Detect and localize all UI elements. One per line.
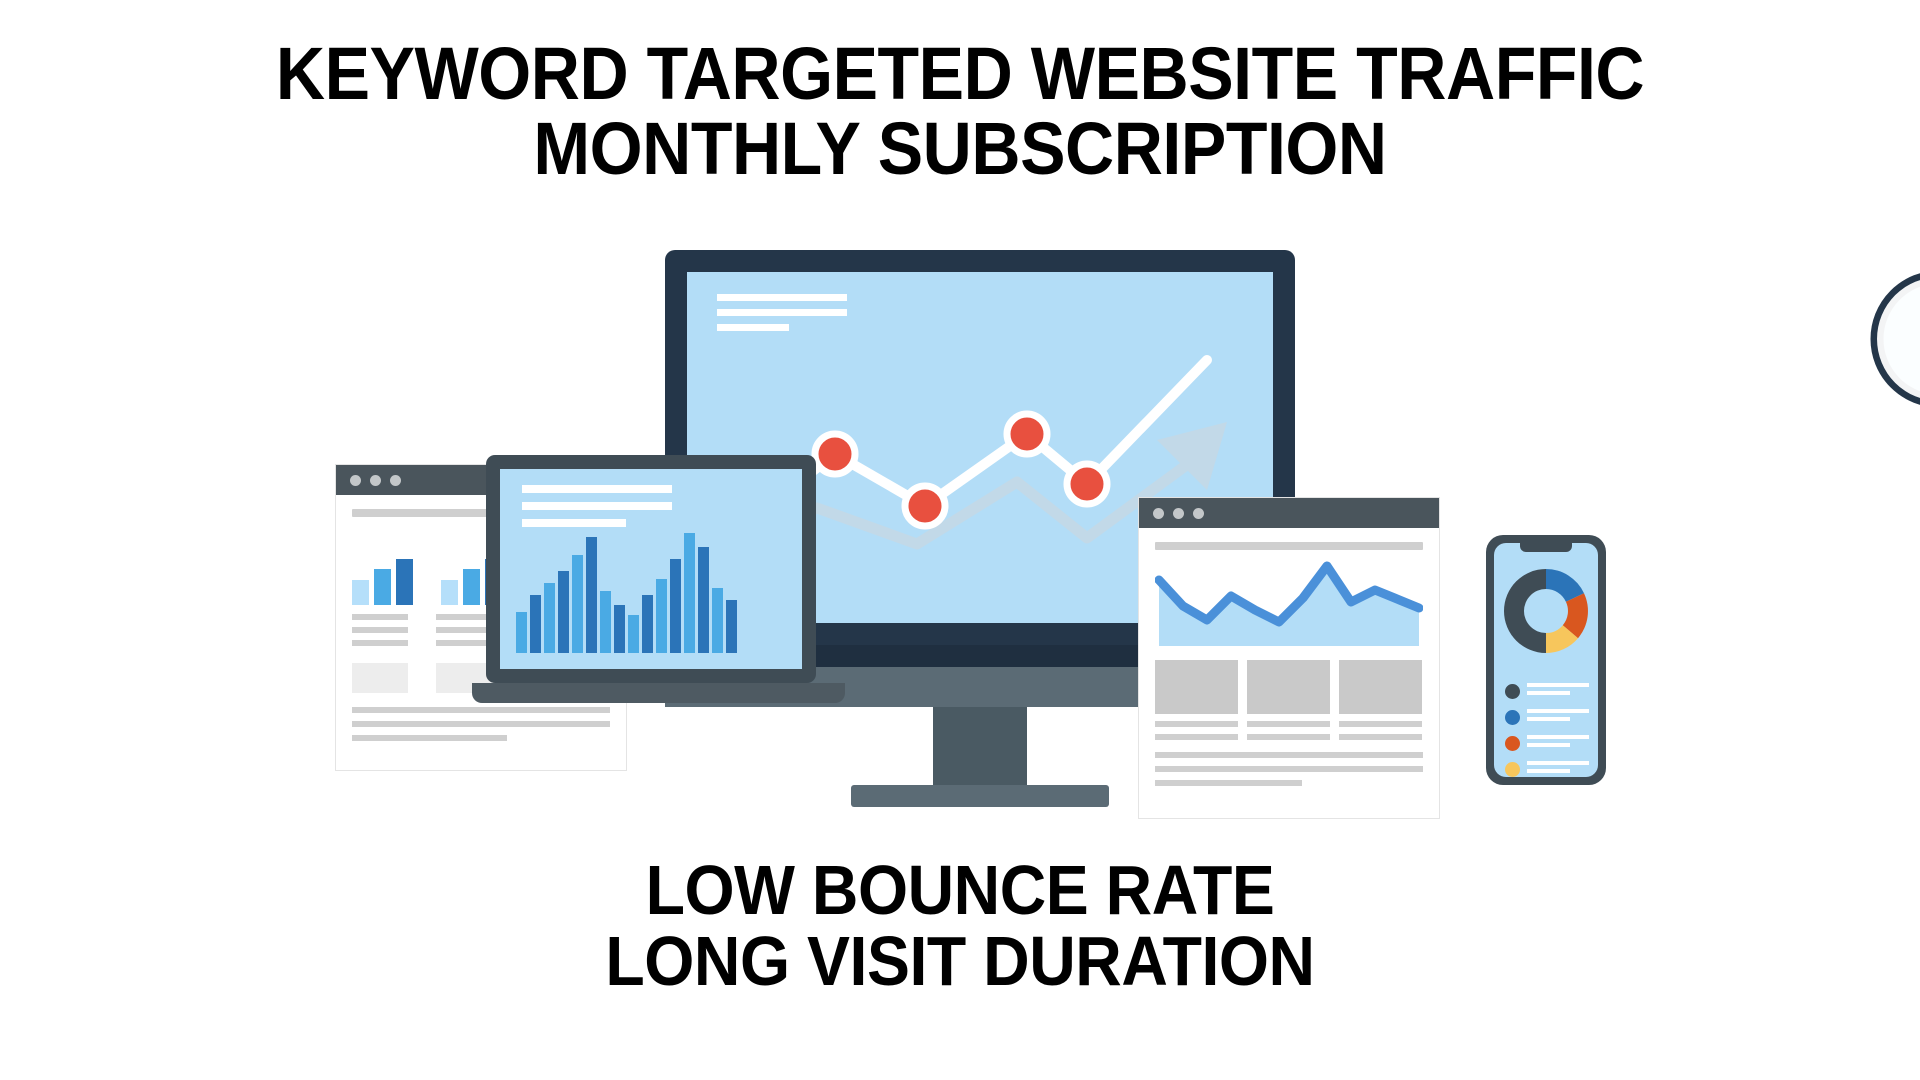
right-browser-window [1139,498,1439,818]
text-line [1155,721,1238,727]
right-browser-titlebar [1139,498,1439,528]
text-line [522,502,672,510]
chart-bar [670,559,681,653]
headline-bottom-line1: LOW BOUNCE RATE [77,855,1843,926]
text-line [1155,780,1302,786]
legend-label-lines [1527,683,1589,699]
content-card-row [1155,660,1423,740]
chart-bar [656,579,667,653]
chart-bar [614,605,625,653]
bar-low [352,580,369,605]
window-dot-icon [1153,508,1164,519]
legend-color-dot [1505,684,1520,699]
chart-bar [572,555,583,653]
chart-bar [530,595,541,653]
text-line [1527,743,1570,747]
text-line [436,640,492,646]
text-line [436,614,492,620]
footer-placeholder-lines [1155,752,1423,786]
chart-bar [628,615,639,653]
heading-placeholder-bar [1155,542,1423,550]
phone-notch [1520,543,1572,552]
chart-bar [698,547,709,653]
text-line [1155,766,1423,772]
content-card [1155,660,1238,740]
headline-top-line1: KEYWORD TARGETED WEBSITE TRAFFIC [77,36,1843,111]
card-image-placeholder [1339,660,1422,714]
text-line [1339,721,1422,727]
content-card [1247,660,1330,740]
legend-label-lines [1527,761,1589,777]
monitor-stand-neck [933,707,1027,789]
laptop-base [472,683,845,703]
window-dot-icon [370,475,381,486]
legend-color-dot [1505,710,1520,725]
data-point-marker [1067,464,1107,504]
chart-bar [726,600,737,653]
laptop-device [486,455,831,710]
bar-mid [374,569,391,605]
magnifying-glass-icon [1855,255,1920,470]
smartphone-device [1486,535,1606,785]
headline-bottom-line2: LONG VISIT DURATION [77,926,1843,997]
magnifier-glare [1877,277,1920,401]
caption-column [436,614,492,653]
donut-segment-a [1504,569,1546,653]
text-line [522,519,626,527]
legend-label-lines [1527,709,1589,725]
laptop-text-placeholder [522,485,672,536]
monitor-stand-base [851,785,1109,807]
window-dot-icon [350,475,361,486]
legend-color-dot [1505,736,1520,751]
text-line [1339,734,1422,740]
chart-bar [684,533,695,653]
laptop-screen [500,469,802,669]
text-line [1527,709,1589,713]
bar-low [441,580,458,605]
text-line [352,640,408,646]
window-dot-icon [390,475,401,486]
headline-top-line2: MONTHLY SUBSCRIPTION [77,111,1843,186]
text-line [352,721,610,727]
card-image-placeholder [1247,660,1330,714]
headline-top: KEYWORD TARGETED WEBSITE TRAFFIC MONTHLY… [0,36,1920,187]
chart-bar [516,612,527,653]
window-dot-icon [1193,508,1204,519]
chart-bar [586,537,597,653]
bar-group [352,543,413,605]
text-line [1527,735,1589,739]
chart-bar [558,571,569,653]
text-line [1527,761,1589,765]
text-line [1527,683,1589,687]
card-image-placeholder [1155,660,1238,714]
text-line [1527,717,1570,721]
poster-canvas: KEYWORD TARGETED WEBSITE TRAFFIC MONTHLY… [0,0,1920,1080]
donut-chart [1494,549,1598,679]
laptop-bar-chart [516,533,737,653]
text-line [352,735,507,741]
text-line [1247,721,1330,727]
text-line [522,485,672,493]
text-line [1155,752,1423,758]
device-cluster-illustration [0,250,1920,830]
legend-item [1505,709,1589,725]
chart-bar [544,583,555,653]
traffic-area-chart [1155,558,1423,646]
text-line [436,627,492,633]
text-line [352,627,408,633]
text-line [352,614,408,620]
donut-legend [1505,683,1589,777]
text-line [1247,734,1330,740]
text-line [1155,734,1238,740]
legend-item [1505,761,1589,777]
right-browser-body [1139,528,1439,786]
chart-bar [712,588,723,653]
footer-placeholder-lines [352,707,610,741]
data-point-marker [905,486,945,526]
phone-screen [1494,543,1598,777]
text-line [1527,691,1570,695]
bar-high [396,559,413,605]
legend-item [1505,735,1589,751]
legend-label-lines [1527,735,1589,751]
content-card [1339,660,1422,740]
window-dot-icon [1173,508,1184,519]
bar-mid [463,569,480,605]
legend-color-dot [1505,762,1520,777]
data-point-marker [1007,414,1047,454]
caption-column [352,614,408,653]
legend-item [1505,683,1589,699]
headline-bottom: LOW BOUNCE RATE LONG VISIT DURATION [0,855,1920,998]
chart-bar [600,591,611,653]
chart-bar [642,595,653,653]
area-chart-svg [1155,558,1423,646]
text-line [1527,769,1570,773]
content-block [352,663,408,693]
